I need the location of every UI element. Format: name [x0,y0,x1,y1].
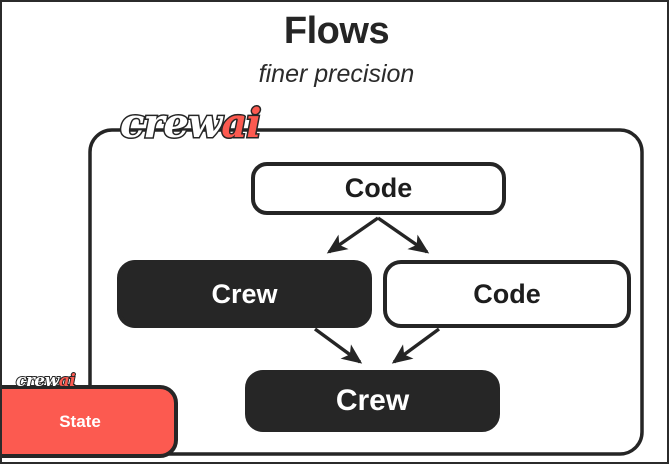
edge-code-mid-to-crew-bot [394,329,439,362]
node-label: Code [345,173,413,204]
diagram-canvas: Flows finer precision Code Crew Code Cre… [0,0,669,464]
node-label: State [59,412,101,432]
crewai-logo-state: crewai [16,373,75,390]
node-label: Code [473,279,541,310]
edge-code-top-to-crew-mid [329,218,378,252]
crewai-logo-crew-text: crew [120,100,221,147]
edge-crew-mid-to-crew-bot [315,329,360,362]
node-code-middle[interactable]: Code [383,260,631,328]
crewai-logo: crewai [120,104,260,144]
crewai-logo-ai-text: ai [221,100,260,147]
edge-code-top-to-code-mid [378,218,427,252]
crewai-logo-ai-text: ai [59,371,75,391]
crewai-logo-crew-text: crew [16,371,59,391]
node-label: Crew [211,279,277,310]
node-crew-bottom[interactable]: Crew [245,370,500,432]
node-label: Crew [336,384,409,418]
node-code-top[interactable]: Code [251,162,506,215]
node-state[interactable]: State [0,385,178,458]
node-crew-middle[interactable]: Crew [117,260,372,328]
